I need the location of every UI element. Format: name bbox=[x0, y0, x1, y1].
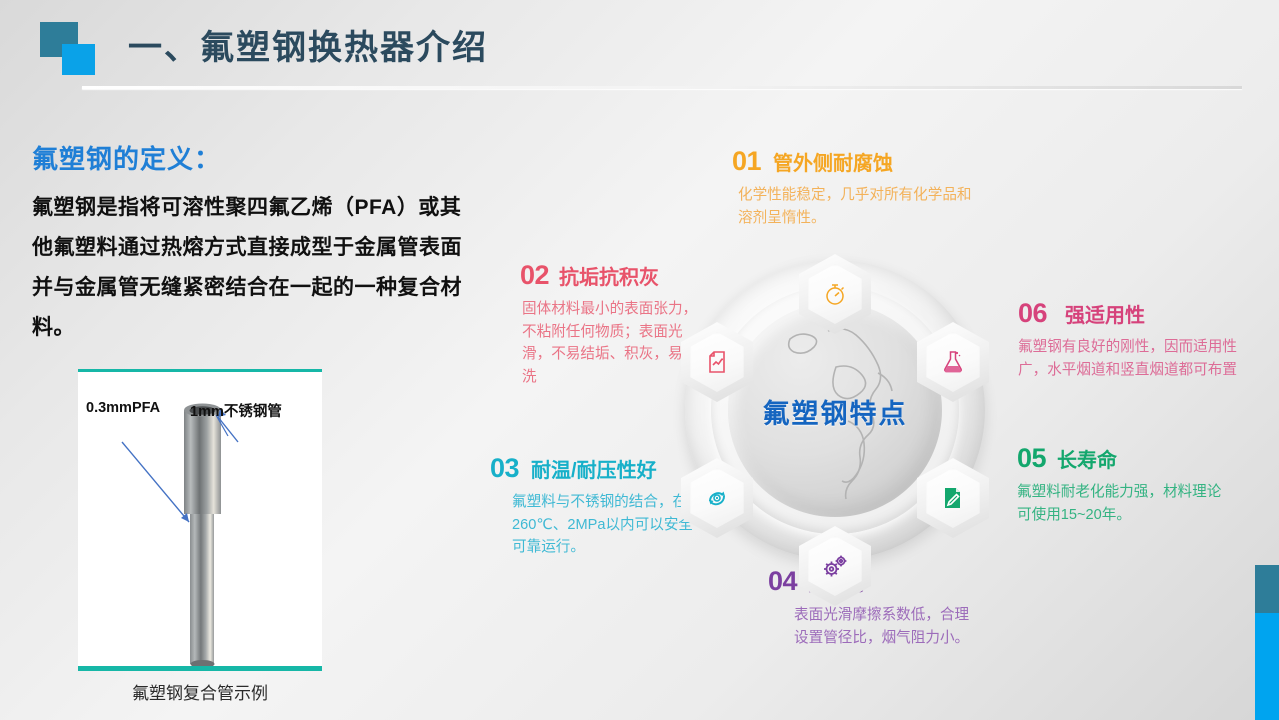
definition-title: 氟塑钢的定义： bbox=[32, 139, 221, 176]
feature-body: 固体材料最小的表面张力，不粘附任何物质；表面光滑，不易结垢、积灰，易清洗 bbox=[522, 298, 700, 388]
feature-title: 耐温/耐压性好 bbox=[531, 461, 657, 481]
feature-number: 04 bbox=[768, 568, 797, 595]
feature-body: 氟塑料耐老化能力强，材料理论可使用15~20年。 bbox=[1017, 481, 1227, 526]
feature-title: 抗垢抗积灰 bbox=[559, 268, 659, 288]
feature-item-03: 03 耐温/耐压性好 氟塑料与不锈钢的结合，在0-260℃、2MPa以内可以安全… bbox=[490, 455, 705, 559]
slide-root: 一、氟塑钢换热器介绍 氟塑钢的定义： 氟塑钢是指将可溶性聚四氟乙烯（PFA）或其… bbox=[0, 0, 1279, 720]
hex-button-gears[interactable] bbox=[799, 526, 871, 606]
gears-icon bbox=[821, 553, 849, 579]
feature-body: 化学性能稳定，几乎对所有化学品和溶剂呈惰性。 bbox=[738, 184, 982, 229]
feature-item-05: 05 长寿命 氟塑料耐老化能力强，材料理论可使用15~20年。 bbox=[1017, 445, 1227, 526]
hex-button-pencil-document[interactable] bbox=[917, 458, 989, 538]
feature-item-01: 01 管外侧耐腐蚀 化学性能稳定，几乎对所有化学品和溶剂呈惰性。 bbox=[732, 148, 982, 229]
feature-number: 06 bbox=[1018, 300, 1047, 327]
header-square-blue bbox=[62, 44, 95, 75]
feature-title: 长寿命 bbox=[1057, 451, 1117, 471]
chart-document-icon bbox=[704, 349, 730, 375]
composite-pipe-photo: 0.3mmPFA 1mm不锈钢管 bbox=[78, 369, 322, 671]
edge-block-dark bbox=[1255, 565, 1279, 613]
feature-number: 03 bbox=[490, 455, 519, 482]
pencil-document-icon bbox=[940, 485, 966, 511]
hex-button-stopwatch[interactable] bbox=[799, 254, 871, 334]
edge-block-blue bbox=[1255, 613, 1279, 720]
feature-number: 02 bbox=[520, 262, 549, 289]
hex-button-chart-document[interactable] bbox=[681, 322, 753, 402]
recycle-icon bbox=[704, 485, 730, 511]
feature-circle-graphic: 氟塑钢特点 bbox=[685, 260, 985, 560]
photo-caption: 氟塑钢复合管示例 bbox=[78, 679, 322, 704]
page-title: 一、氟塑钢换热器介绍 bbox=[128, 20, 488, 69]
feature-number: 01 bbox=[732, 148, 761, 175]
stopwatch-icon bbox=[822, 281, 848, 307]
feature-body: 表面光滑摩擦系数低，合理设置管径比，烟气阻力小。 bbox=[794, 604, 983, 649]
feature-item-02: 02 抗垢抗积灰 固体材料最小的表面张力，不粘附任何物质；表面光滑，不易结垢、积… bbox=[520, 262, 700, 388]
feature-item-06: 06 强适用性 氟塑钢有良好的刚性，因而适用性广，水平烟道和竖直烟道都可布置 bbox=[1018, 300, 1243, 381]
feature-title: 管外侧耐腐蚀 bbox=[773, 154, 893, 174]
hex-button-recycle[interactable] bbox=[681, 458, 753, 538]
header-divider bbox=[82, 86, 1242, 89]
feature-body: 氟塑料与不锈钢的结合，在0-260℃、2MPa以内可以安全可靠运行。 bbox=[512, 491, 705, 559]
definition-body: 氟塑钢是指将可溶性聚四氟乙烯（PFA）或其他氟塑料通过热熔方式直接成型于金属管表… bbox=[32, 188, 477, 348]
photo-label-pfa: 0.3mmPFA bbox=[86, 400, 160, 416]
feature-body: 氟塑钢有良好的刚性，因而适用性广，水平烟道和竖直烟道都可布置 bbox=[1018, 336, 1243, 381]
photo-label-steel-pipe: 1mm不锈钢管 bbox=[190, 400, 282, 421]
flask-icon bbox=[940, 349, 966, 375]
hex-button-flask[interactable] bbox=[917, 322, 989, 402]
feature-title: 强适用性 bbox=[1065, 306, 1145, 326]
feature-number: 05 bbox=[1017, 445, 1046, 472]
features-infographic: 01 管外侧耐腐蚀 化学性能稳定，几乎对所有化学品和溶剂呈惰性。 02 抗垢抗积… bbox=[470, 110, 1270, 710]
